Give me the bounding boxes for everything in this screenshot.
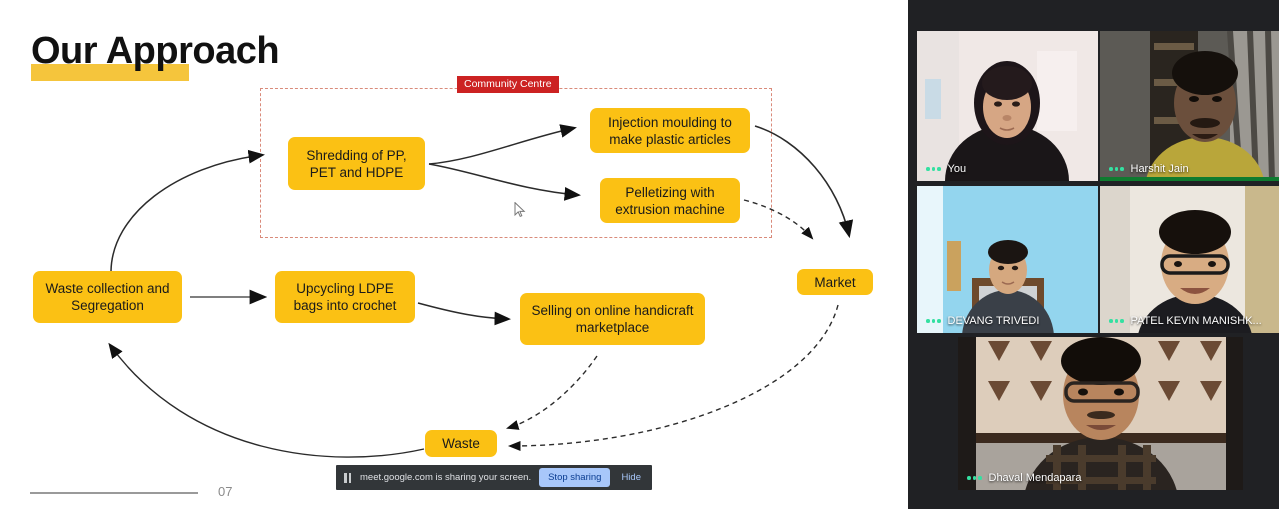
video-tile-devang-trivedi[interactable]: DEVANG TRIVEDI (917, 186, 1098, 333)
speaking-indicator (1100, 177, 1279, 181)
share-message: meet.google.com is sharing your screen. (360, 472, 531, 483)
participant-name: PATEL KEVIN MANISHK... (1131, 315, 1262, 327)
participant-name: Dhaval Mendapara (989, 472, 1082, 484)
participant-name: DEVANG TRIVEDI (948, 315, 1040, 327)
node-injection-moulding[interactable]: Injection moulding to make plastic artic… (590, 108, 750, 153)
node-pelletizing[interactable]: Pelletizing with extrusion machine (600, 178, 740, 223)
mic-activity-icon (926, 167, 941, 171)
video-tile-you[interactable]: You (917, 31, 1098, 181)
node-waste-collection[interactable]: Waste collection and Segregation (33, 271, 182, 323)
node-waste[interactable]: Waste (425, 430, 497, 457)
stop-sharing-button[interactable]: Stop sharing (539, 468, 610, 487)
shared-slide: Our Approach Community Centre (0, 0, 908, 509)
screen-share-window: Our Approach Community Centre (0, 0, 1279, 509)
pause-icon[interactable] (343, 473, 352, 483)
participant-name: You (948, 163, 967, 175)
participants-panel: You Harshit Jain (908, 0, 1279, 509)
screen-share-banner: meet.google.com is sharing your screen. … (336, 465, 652, 490)
mic-activity-icon (926, 319, 941, 323)
node-selling-online[interactable]: Selling on online handicraft marketplace (520, 293, 705, 345)
tile-label: PATEL KEVIN MANISHK... (1100, 310, 1279, 333)
mouse-cursor-icon (514, 202, 526, 218)
tile-label: Dhaval Mendapara (958, 467, 1243, 490)
tile-label: DEVANG TRIVEDI (917, 310, 1098, 333)
mic-activity-icon (1109, 167, 1124, 171)
mic-activity-icon (1109, 319, 1124, 323)
video-tile-patel-kevin[interactable]: PATEL KEVIN MANISHK... (1100, 186, 1279, 333)
tile-label: You (917, 158, 1098, 181)
mic-activity-icon (967, 476, 982, 480)
participant-name: Harshit Jain (1131, 163, 1189, 175)
node-upcycling-ldpe[interactable]: Upcycling LDPE bags into crochet (275, 271, 415, 323)
hide-button[interactable]: Hide (618, 470, 644, 485)
node-market[interactable]: Market (797, 269, 873, 295)
video-tile-harshit-jain[interactable]: Harshit Jain (1100, 31, 1279, 181)
node-shredding[interactable]: Shredding of PP, PET and HDPE (288, 137, 425, 190)
video-tile-dhaval-mendapara[interactable]: Dhaval Mendapara (958, 337, 1243, 490)
